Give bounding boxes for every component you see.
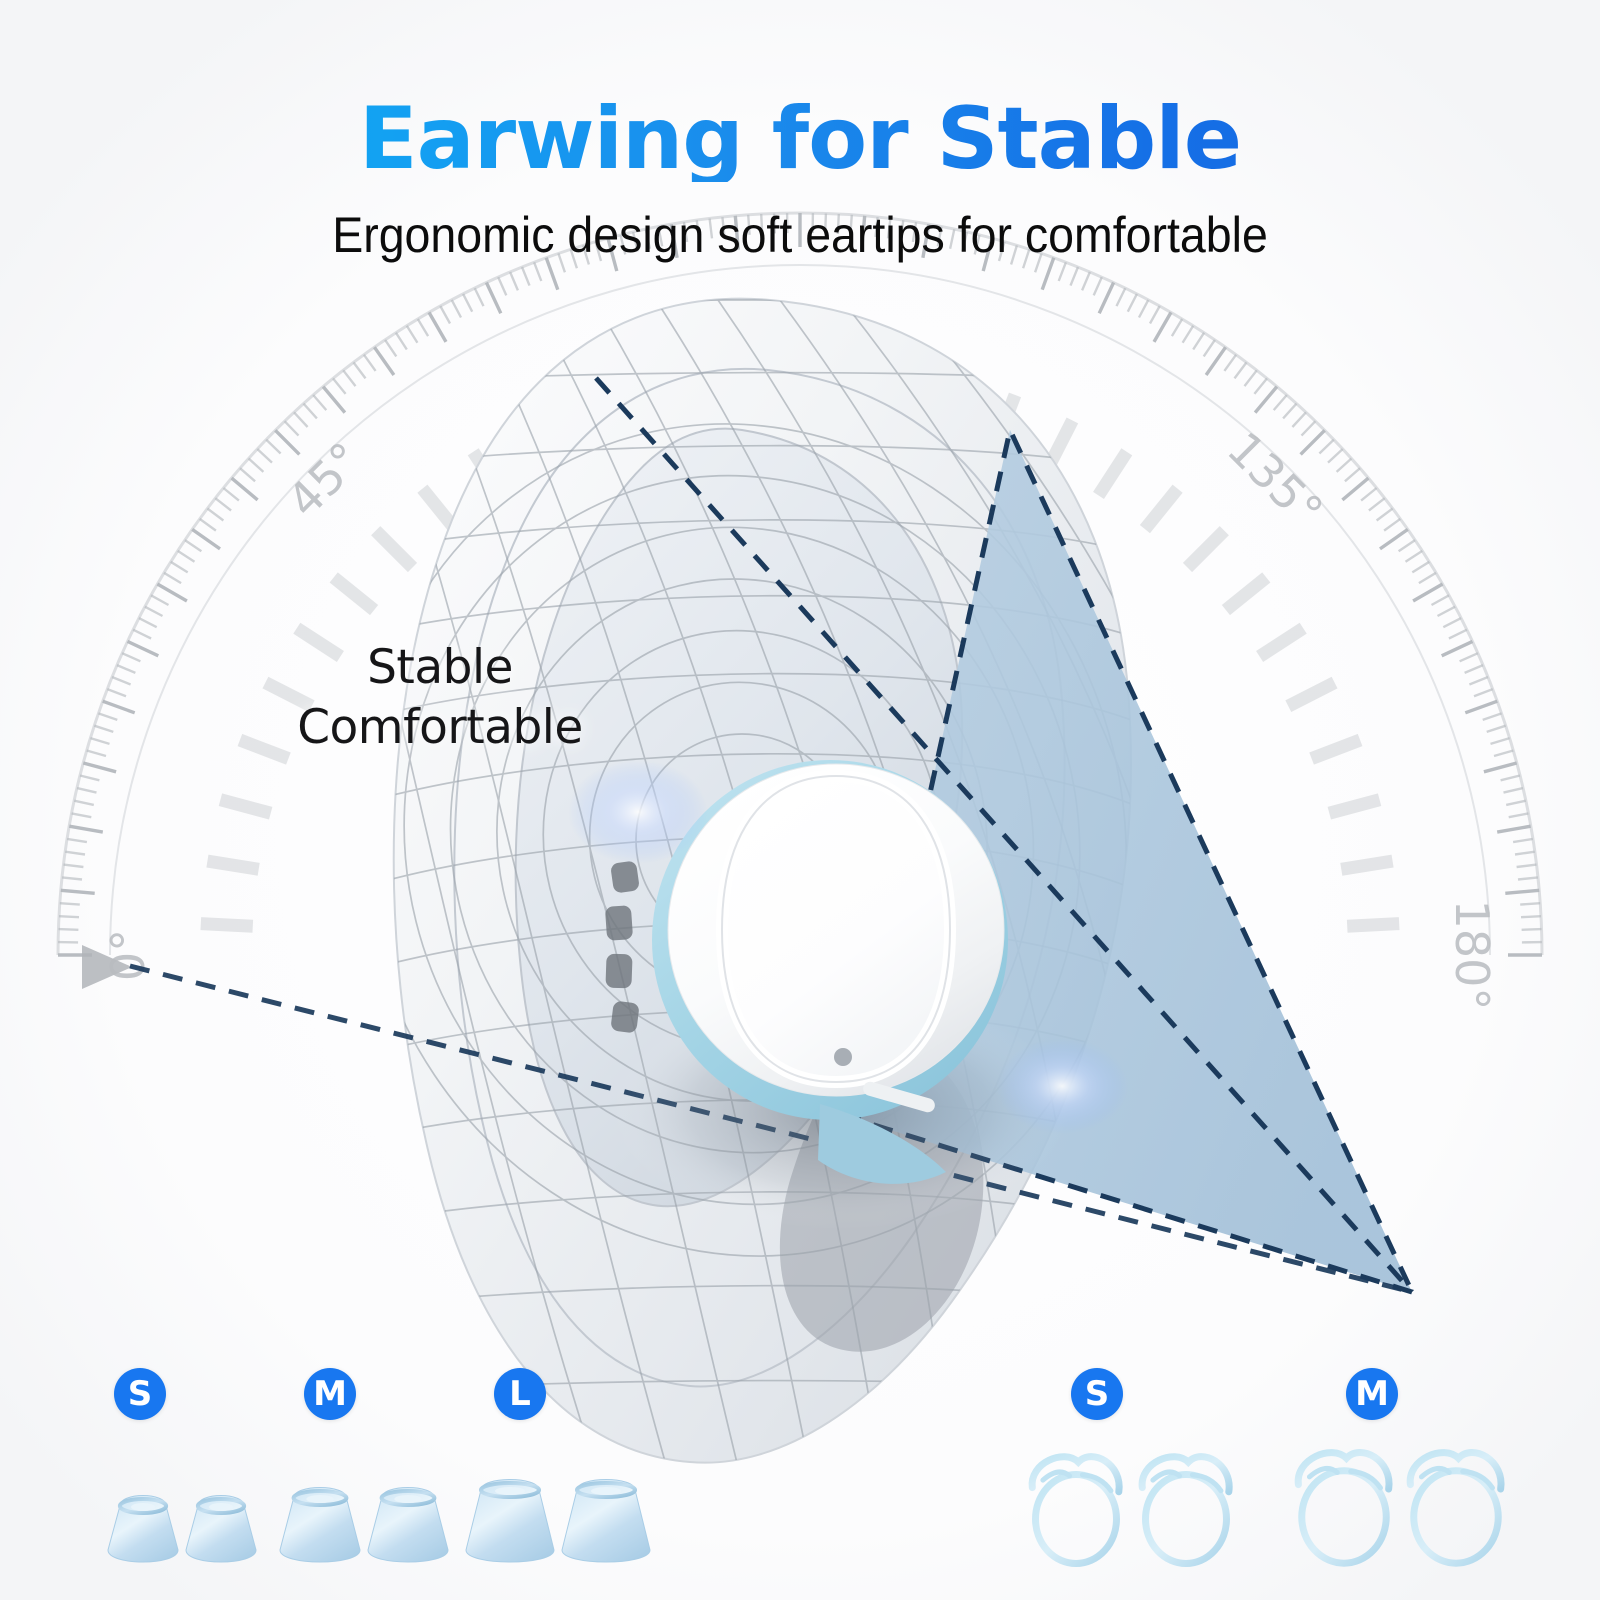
earwing bbox=[1142, 1457, 1229, 1564]
protractor-tick bbox=[60, 903, 80, 904]
protractor-dash bbox=[201, 924, 253, 927]
eartip-size-badge-m: M bbox=[304, 1368, 356, 1420]
eartip bbox=[368, 1488, 448, 1563]
earwing-size-badge-s: S bbox=[1071, 1368, 1123, 1420]
protractor-degree-text: 180° bbox=[1445, 900, 1499, 1011]
eartip bbox=[562, 1480, 650, 1563]
earbud-flare-right bbox=[996, 1038, 1128, 1134]
accessories-strip: SMLSM bbox=[0, 1330, 1600, 1600]
earbud-flare-left bbox=[568, 760, 708, 864]
protractor-tick bbox=[59, 929, 79, 930]
protractor-dash bbox=[1341, 861, 1392, 869]
eartip-size-badge-s: S bbox=[114, 1368, 166, 1420]
protractor-tick bbox=[748, 215, 749, 235]
eartip-size-badge-l: L bbox=[494, 1368, 546, 1420]
protractor-degree-label: 0° bbox=[101, 929, 155, 981]
protractor-tick bbox=[1520, 903, 1540, 904]
earwing bbox=[1298, 1452, 1389, 1563]
eartip bbox=[186, 1496, 256, 1563]
protractor-tick bbox=[774, 214, 775, 234]
eartip bbox=[466, 1480, 554, 1563]
protractor-dash bbox=[1347, 924, 1399, 927]
earwing-size-badge-m: M bbox=[1346, 1368, 1398, 1420]
protractor-tick bbox=[850, 215, 851, 235]
protractor-tick bbox=[838, 214, 839, 234]
earbud-mic-hole bbox=[834, 1048, 852, 1066]
protractor-tick bbox=[1521, 916, 1541, 917]
protractor-tick bbox=[761, 214, 762, 234]
protractor-tick bbox=[1522, 929, 1542, 930]
earwing bbox=[1032, 1457, 1119, 1564]
eartip bbox=[280, 1488, 360, 1563]
earwing bbox=[1410, 1452, 1501, 1563]
protractor-tick bbox=[59, 916, 79, 917]
protractor-degree-text: 0° bbox=[101, 929, 155, 981]
protractor-degree-label: 180° bbox=[1445, 900, 1499, 1011]
eartip bbox=[108, 1496, 178, 1563]
protractor-tick bbox=[825, 214, 826, 234]
earbud-touch-panel[interactable] bbox=[722, 776, 950, 1082]
product-infographic: 0°45°135°180° bbox=[0, 0, 1600, 1600]
protractor-dash bbox=[207, 861, 258, 869]
